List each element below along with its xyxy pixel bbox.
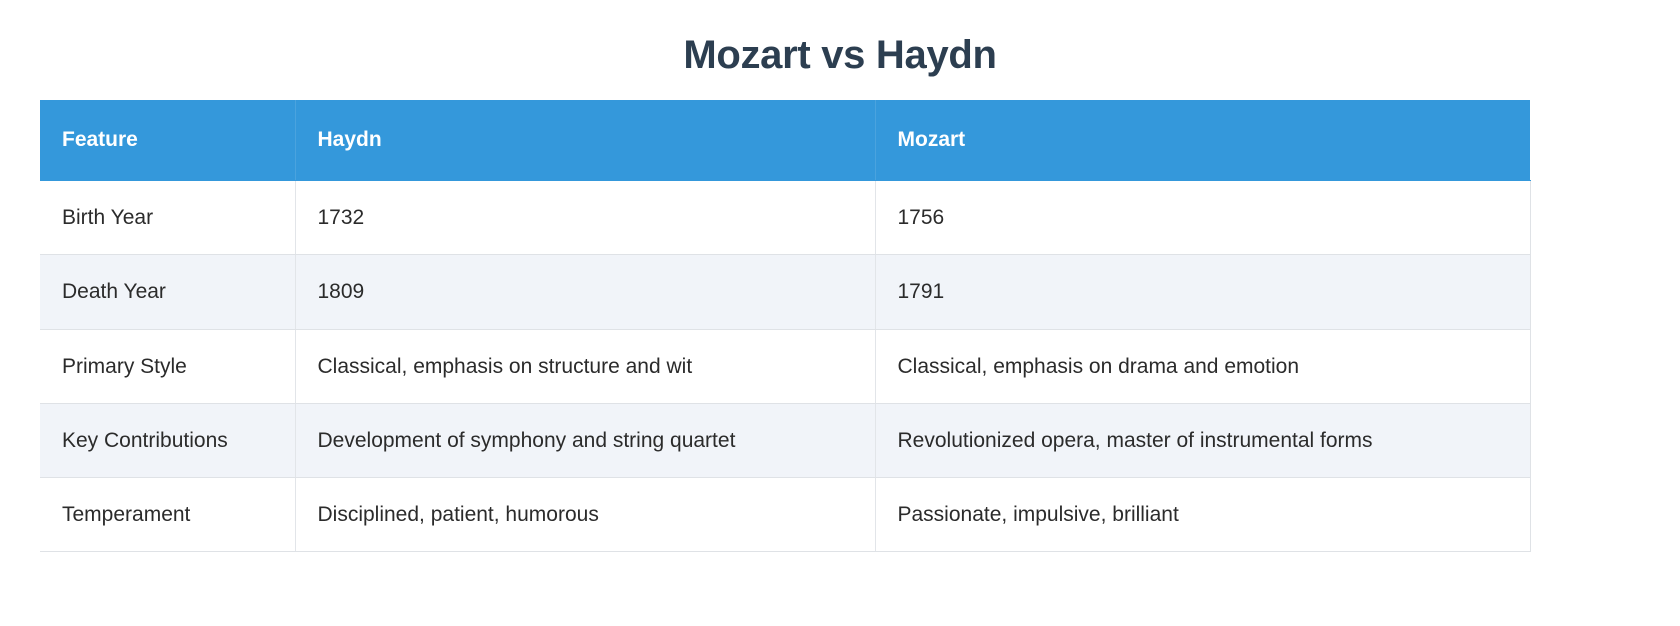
table-row: Key Contributions Development of symphon… [40,403,1530,477]
table-row: Primary Style Classical, emphasis on str… [40,329,1530,403]
column-header-mozart[interactable]: Mozart [875,100,1530,181]
cell-haydn: Development of symphony and string quart… [295,403,875,477]
cell-mozart: 1791 [875,255,1530,329]
table-row: Birth Year 1732 1756 [40,181,1530,255]
page-root: Mozart vs Haydn Feature Haydn Mozart Bir… [0,0,1680,626]
comparison-table: Feature Haydn Mozart Birth Year 1732 175… [40,100,1531,552]
cell-feature: Primary Style [40,329,295,403]
cell-haydn: 1809 [295,255,875,329]
cell-feature: Birth Year [40,181,295,255]
column-header-haydn[interactable]: Haydn [295,100,875,181]
cell-mozart: Revolutionized opera, master of instrume… [875,403,1530,477]
cell-feature: Death Year [40,255,295,329]
cell-mozart: 1756 [875,181,1530,255]
page-title: Mozart vs Haydn [0,0,1680,79]
cell-haydn: Classical, emphasis on structure and wit [295,329,875,403]
table-row: Death Year 1809 1791 [40,255,1530,329]
table-header: Feature Haydn Mozart [40,100,1530,181]
cell-feature: Key Contributions [40,403,295,477]
cell-feature: Temperament [40,478,295,552]
column-header-feature[interactable]: Feature [40,100,295,181]
comparison-table-container: Feature Haydn Mozart Birth Year 1732 175… [40,100,1530,552]
cell-haydn: Disciplined, patient, humorous [295,478,875,552]
cell-mozart: Classical, emphasis on drama and emotion [875,329,1530,403]
cell-mozart: Passionate, impulsive, brilliant [875,478,1530,552]
table-header-row: Feature Haydn Mozart [40,100,1530,181]
table-body: Birth Year 1732 1756 Death Year 1809 179… [40,181,1530,552]
table-row: Temperament Disciplined, patient, humoro… [40,478,1530,552]
cell-haydn: 1732 [295,181,875,255]
